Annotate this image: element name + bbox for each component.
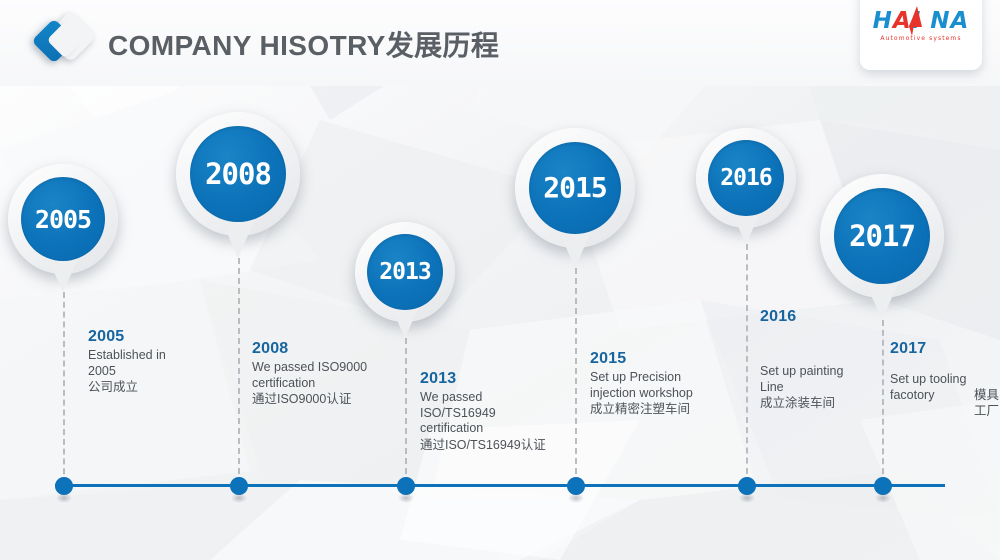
axis-dot-2008[interactable] — [230, 477, 248, 495]
milestone-year-heading: 2015 — [590, 350, 742, 368]
brand-word-part1: H — [873, 8, 893, 34]
milestone-desc-en: Established in 2005 — [88, 348, 238, 379]
milestone-text-2005: 2005 Established in 2005 公司成立 — [88, 328, 238, 395]
milestone-year-2016: 2016 — [760, 308, 880, 328]
timeline-pin-2016[interactable]: 2016 — [696, 128, 796, 246]
milestone-text-2017: Set up tooling facotory 模具工厂 — [890, 372, 1000, 419]
milestone-year-heading: 2013 — [420, 370, 572, 388]
axis-dot-2017[interactable] — [874, 477, 892, 495]
pin-year-label: 2008 — [205, 160, 271, 189]
milestone-year-heading: 2008 — [252, 340, 410, 358]
milestone-desc-cn: 成立涂装车间 — [760, 395, 880, 411]
timeline-pin-2005[interactable]: 2005 — [8, 164, 118, 292]
milestone-desc-cn: 通过ISO/TS16949认证 — [420, 437, 572, 453]
milestone-desc-cn: 公司成立 — [88, 379, 238, 395]
timeline-pin-2008[interactable]: 2008 — [176, 112, 300, 260]
pin-year-label: 2013 — [379, 261, 430, 284]
milestone-text-2015: 2015 Set up Precision injection workshop… — [590, 350, 742, 417]
axis-dot-2005[interactable] — [55, 477, 73, 495]
timeline-pin-2015[interactable]: 2015 — [515, 128, 635, 270]
pin-year-label: 2005 — [35, 207, 91, 232]
milestone-desc-cn: 成立精密注塑车间 — [590, 401, 742, 417]
slide-canvas: COMPANY HISOTRY发展历程 HAI NA Automotive sy… — [0, 0, 1000, 560]
milestone-year-heading: 2017 — [890, 340, 1000, 358]
milestone-text-2013: 2013 We passed ISO/TS16949 certification… — [420, 370, 572, 453]
brand-logo-card: HAI NA Automotive systems — [860, 0, 982, 70]
pin-year-label: 2015 — [543, 174, 606, 202]
milestone-desc-cn: 模具工厂 — [974, 387, 1000, 419]
page-title: COMPANY HISOTRY发展历程 — [108, 24, 499, 64]
connector-line-2015 — [575, 268, 577, 484]
connector-line-2005 — [63, 292, 65, 484]
milestone-desc-en: Set up painting Line — [760, 364, 880, 395]
pin-year-label: 2016 — [720, 167, 771, 190]
axis-dot-2016[interactable] — [738, 477, 756, 495]
milestone-year-heading: 2016 — [760, 308, 880, 326]
connector-line-2008 — [238, 258, 240, 484]
milestone-desc-cn: 通过ISO9000认证 — [252, 391, 410, 407]
connector-line-2016 — [746, 244, 748, 484]
milestone-desc-en: We passed ISO/TS16949 certification — [420, 390, 572, 437]
company-diamond-logo-icon — [38, 16, 94, 72]
connector-line-2017 — [882, 320, 884, 484]
brand-bolt-icon — [906, 6, 924, 36]
milestone-year-2017: 2017 — [890, 340, 1000, 360]
brand-tagline: Automotive systems — [860, 36, 982, 42]
milestone-text-2008: 2008 We passed ISO9000 certification 通过I… — [252, 340, 410, 407]
milestone-desc-en: Set up Precision injection workshop — [590, 370, 742, 401]
timeline-pin-2017[interactable]: 2017 — [820, 174, 944, 322]
milestone-year-heading: 2005 — [88, 328, 238, 346]
timeline-pin-2013[interactable]: 2013 — [355, 222, 455, 340]
axis-dot-2013[interactable] — [397, 477, 415, 495]
pin-year-label: 2017 — [849, 222, 915, 251]
timeline-axis — [55, 484, 945, 487]
axis-dot-2015[interactable] — [567, 477, 585, 495]
milestone-text-2016: Set up painting Line 成立涂装车间 — [760, 364, 880, 411]
milestone-desc-en: We passed ISO9000 certification — [252, 360, 410, 391]
